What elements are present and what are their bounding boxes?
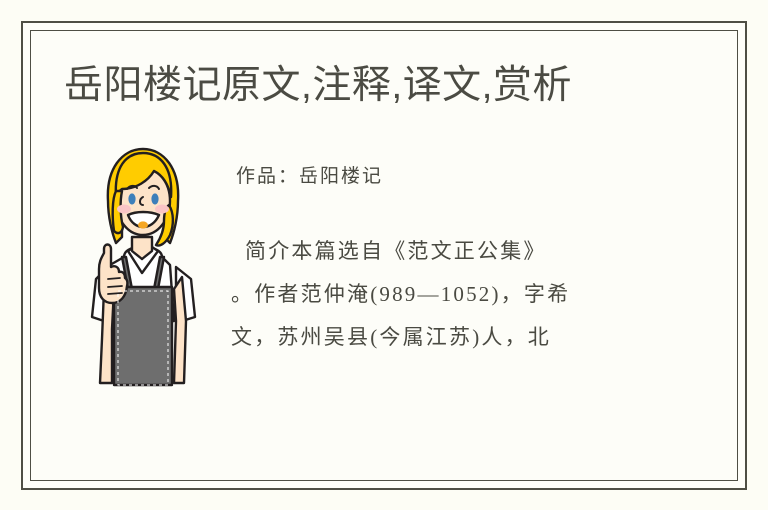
intro-line-1: 简介本篇选自《范文正公集》 — [231, 230, 651, 273]
work-title-line: 作品：岳阳楼记 — [236, 161, 707, 188]
cartoon-woman-pointing-icon — [78, 139, 208, 389]
article-card: 岳阳楼记原文,注释,译文,赏析 — [21, 21, 747, 490]
article-text-column: 作品：岳阳楼记 简介本篇选自《范文正公集》 。作者范仲淹(989—1052)，字… — [231, 139, 707, 359]
article-content: 作品：岳阳楼记 简介本篇选自《范文正公集》 。作者范仲淹(989—1052)，字… — [31, 139, 737, 480]
intro-line-3: 文，苏州吴县(今属江苏)人，北 — [231, 316, 651, 359]
intro-paragraph: 简介本篇选自《范文正公集》 。作者范仲淹(989—1052)，字希 文，苏州吴县… — [231, 230, 651, 359]
article-card-inner: 岳阳楼记原文,注释,译文,赏析 — [30, 30, 738, 481]
intro-line-2: 。作者范仲淹(989—1052)，字希 — [231, 273, 651, 316]
illustration-cartoon-woman — [78, 139, 208, 389]
page-title: 岳阳楼记原文,注释,译文,赏析 — [64, 63, 572, 109]
